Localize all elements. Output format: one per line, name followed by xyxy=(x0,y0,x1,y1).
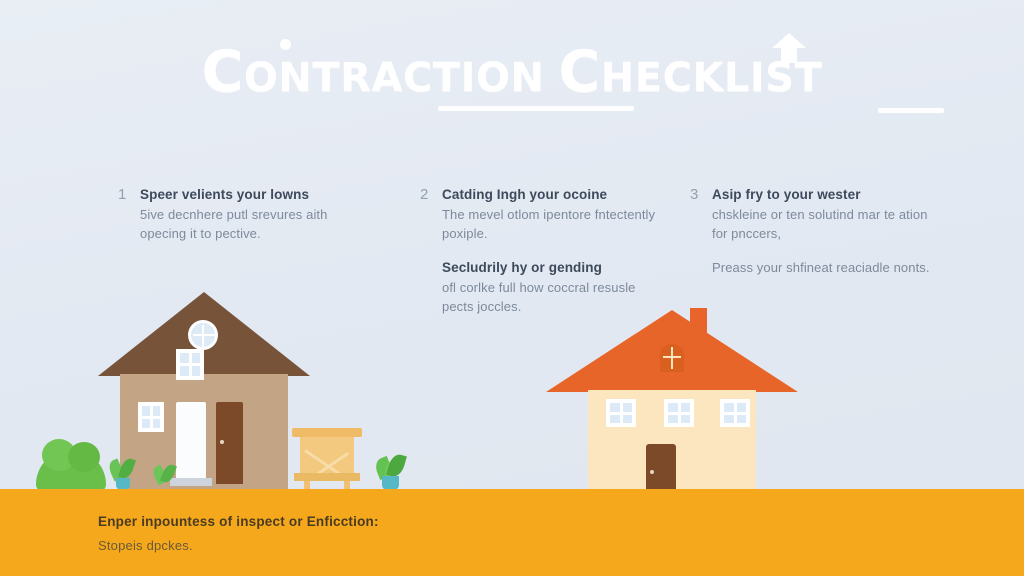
title-text: ContractionChecklist xyxy=(202,44,823,101)
item-heading: Speer velients your lowns xyxy=(140,186,368,204)
item-number: 3 xyxy=(690,186,712,243)
potted-plant-illustration xyxy=(108,456,138,490)
banner-heading: Enper inpountess of inspect or Enficctio… xyxy=(98,512,798,532)
item-heading: Catding Ingh your ocoine xyxy=(442,186,670,204)
item-number: 1 xyxy=(118,186,140,243)
title-word-one: Contraction xyxy=(202,39,545,105)
leaf-shape xyxy=(160,463,177,485)
banner-text-block: Enper inpountess of inspect or Enficctio… xyxy=(98,512,798,556)
checklist-column-1: 1 Speer velients your lowns 5ive decnher… xyxy=(118,186,368,259)
page-title: ContractionChecklist xyxy=(0,44,1024,101)
window-icon xyxy=(138,402,164,432)
door-knob-icon xyxy=(650,470,654,474)
window-icon xyxy=(176,349,204,380)
item-body: The mevel otlom ipentore fntectently pox… xyxy=(442,206,670,243)
potted-plant-illustration xyxy=(372,452,408,490)
bush-illustration xyxy=(36,450,106,492)
grass-tuft-illustration xyxy=(152,462,180,490)
house-body-accent-icon xyxy=(781,47,797,63)
house-illustration-left xyxy=(112,292,296,490)
dot-accent-icon xyxy=(280,39,291,50)
wooden-crate-illustration xyxy=(296,428,358,490)
item-body: chskleine or ten solutind mar te ation f… xyxy=(712,206,940,243)
item-text: Catding Ingh your ocoine The mevel otlom… xyxy=(442,186,670,243)
poster-canvas: ContractionChecklist 1 Speer velients yo… xyxy=(0,0,1024,576)
item-heading: Secludrily hy or gending xyxy=(442,259,670,277)
item-text: Preass your shfineat reaciadle nonts. xyxy=(712,259,940,278)
item-text: Asip fry to your wester chskleine or ten… xyxy=(712,186,940,243)
crate-roof xyxy=(292,428,362,437)
checklist-subitem: Preass your shfineat reaciadle nonts. xyxy=(712,259,940,278)
banner-subtext: Stopeis dpckes. xyxy=(98,536,798,556)
item-heading: Asip fry to your wester xyxy=(712,186,940,204)
checklist-item: 3 Asip fry to your wester chskleine or t… xyxy=(690,186,940,243)
checklist-column-3: 3 Asip fry to your wester chskleine or t… xyxy=(690,186,940,294)
window-icon xyxy=(664,399,694,427)
front-door-white xyxy=(176,402,206,484)
item-body: Preass your shfineat reaciadle nonts. xyxy=(712,259,940,278)
leaf-shape xyxy=(386,452,407,478)
leaf-shape xyxy=(118,457,136,481)
item-number: 2 xyxy=(420,186,442,243)
window-icon xyxy=(606,399,636,427)
title-underline-one xyxy=(438,106,634,111)
item-body: 5ive decnhere putl srevures aith opecing… xyxy=(140,206,368,243)
front-door xyxy=(646,444,676,492)
attic-round-window-icon xyxy=(188,320,218,350)
item-text: Speer velients your lowns 5ive decnhere … xyxy=(140,186,368,243)
attic-arched-window-icon xyxy=(660,344,684,372)
crate-body xyxy=(300,437,354,477)
window-icon xyxy=(720,399,750,427)
house-illustration-right xyxy=(562,302,790,490)
checklist-item: 2 Catding Ingh your ocoine The mevel otl… xyxy=(420,186,670,243)
crate-band xyxy=(294,473,360,481)
door-knob-icon xyxy=(220,440,224,444)
plant-pot xyxy=(382,476,399,490)
checklist-item: 1 Speer velients your lowns 5ive decnher… xyxy=(118,186,368,243)
house-roof-accent-icon xyxy=(772,33,806,48)
title-underline-two xyxy=(878,108,944,113)
